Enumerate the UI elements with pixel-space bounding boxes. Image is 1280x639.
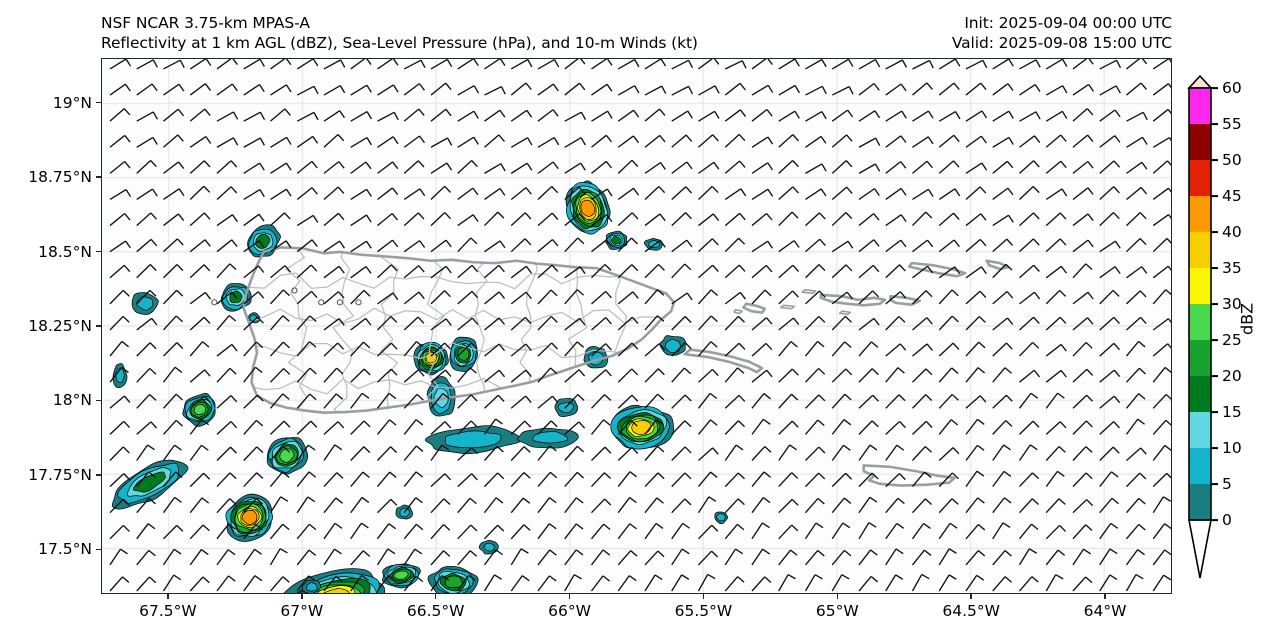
latitude-tick-mark	[96, 549, 101, 551]
longitude-tick-mark	[435, 594, 437, 599]
colorbar-band	[1189, 160, 1211, 196]
latitude-tick-label: 18°N	[0, 391, 92, 409]
latitude-tick-mark	[96, 176, 101, 178]
colorbar-tick-label: 50	[1222, 151, 1242, 169]
longitude-tick-label: 66°W	[548, 602, 591, 620]
longitude-tick-mark	[837, 594, 839, 599]
longitude-tick-mark	[1104, 594, 1106, 599]
longitude-tick-mark	[569, 594, 571, 599]
colorbar-tick-mark	[1211, 159, 1218, 161]
colorbar-tick-mark	[1211, 267, 1218, 269]
colorbar-tick-mark	[1211, 519, 1218, 521]
latitude-tick-label: 18.25°N	[0, 317, 92, 335]
map-plot-area[interactable]	[101, 58, 1172, 594]
colorbar-band	[1189, 340, 1211, 376]
field-title: Reflectivity at 1 km AGL (dBZ), Sea-Leve…	[101, 34, 698, 52]
latitude-tick-label: 18.5°N	[0, 243, 92, 261]
colorbar-tick-mark	[1211, 123, 1218, 125]
colorbar-tick-label: 45	[1222, 187, 1242, 205]
init-time-label: Init: 2025-09-04 00:00 UTC	[964, 14, 1172, 32]
colorbar-tick-label: 55	[1222, 115, 1242, 133]
colorbar-tick-label: 10	[1222, 439, 1242, 457]
longitude-tick-mark	[703, 594, 705, 599]
colorbar-tick-mark	[1211, 87, 1218, 89]
colorbar-band	[1189, 88, 1211, 124]
longitude-tick-mark	[970, 594, 972, 599]
colorbar-tick-mark	[1211, 447, 1218, 449]
latitude-tick-mark	[96, 251, 101, 253]
colorbar-tick-mark	[1211, 303, 1218, 305]
map-canvas	[102, 59, 1171, 593]
colorbar-band	[1189, 412, 1211, 448]
model-title: NSF NCAR 3.75-km MPAS-A	[101, 14, 310, 32]
latitude-tick-label: 17.5°N	[0, 540, 92, 558]
colorbar-tick-mark	[1211, 483, 1218, 485]
colorbar-band	[1189, 448, 1211, 484]
colorbar-tick-mark	[1211, 339, 1218, 341]
latitude-tick-label: 18.75°N	[0, 168, 92, 186]
longitude-tick-label: 65°W	[816, 602, 859, 620]
latitude-tick-label: 17.75°N	[0, 466, 92, 484]
colorbar-tick-label: 15	[1222, 403, 1242, 421]
colorbar-band	[1189, 304, 1211, 340]
longitude-tick-label: 65.5°W	[675, 602, 733, 620]
latitude-tick-mark	[96, 102, 101, 104]
colorbar-band	[1189, 124, 1211, 160]
longitude-tick-mark	[301, 594, 303, 599]
longitude-tick-label: 67.5°W	[139, 602, 197, 620]
colorbar-band	[1189, 484, 1211, 520]
colorbar-band	[1189, 268, 1211, 304]
colorbar-tick-label: 35	[1222, 259, 1242, 277]
colorbar-tick-mark	[1211, 411, 1218, 413]
colorbar-over-arrow	[1189, 76, 1211, 88]
colorbar-tick-label: 20	[1222, 367, 1242, 385]
latitude-tick-label: 19°N	[0, 94, 92, 112]
valid-time-label: Valid: 2025-09-08 15:00 UTC	[952, 34, 1172, 52]
colorbar-band	[1189, 196, 1211, 232]
longitude-tick-mark	[167, 594, 169, 599]
longitude-tick-label: 64°W	[1084, 602, 1127, 620]
latitude-tick-mark	[96, 400, 101, 402]
weather-forecast-figure: NSF NCAR 3.75-km MPAS-A Reflectivity at …	[0, 0, 1280, 639]
colorbar-tick-mark	[1211, 231, 1218, 233]
colorbar-tick-label: 60	[1222, 79, 1242, 97]
longitude-tick-label: 64.5°W	[942, 602, 1000, 620]
latitude-tick-mark	[96, 325, 101, 327]
reflectivity-colorbar[interactable]	[1189, 76, 1211, 580]
colorbar-tick-label: 40	[1222, 223, 1242, 241]
colorbar-axis-title: dBZ	[1238, 303, 1257, 335]
colorbar-band	[1189, 376, 1211, 412]
longitude-tick-label: 67°W	[280, 602, 323, 620]
colorbar-tick-mark	[1211, 195, 1218, 197]
colorbar-tick-mark	[1211, 375, 1218, 377]
latitude-tick-mark	[96, 474, 101, 476]
colorbar-band	[1189, 232, 1211, 268]
longitude-tick-label: 66.5°W	[407, 602, 465, 620]
colorbar-swatches	[1189, 76, 1211, 580]
colorbar-tick-label: 0	[1222, 511, 1232, 529]
colorbar-tick-label: 5	[1222, 475, 1232, 493]
colorbar-under-arrow	[1189, 520, 1211, 578]
